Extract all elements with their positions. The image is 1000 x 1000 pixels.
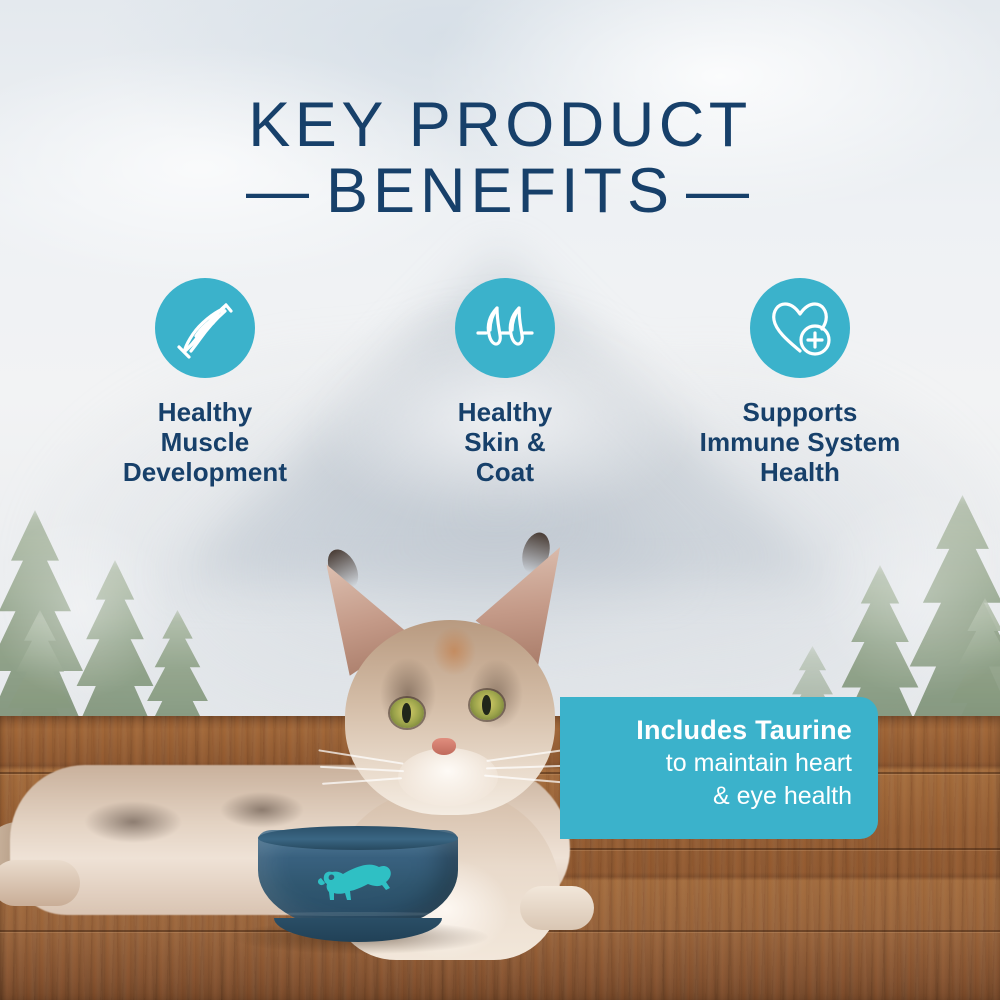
cat-muzzle [398,748,498,806]
product-benefits-banner: KEY PRODUCT —BENEFITS— Healthy Muscle D [0,0,1000,1000]
bowl-base-ring [268,912,448,916]
benefit-item-immune: Supports Immune System Health [650,278,950,487]
cat-pupil-right [482,695,491,715]
benefit-label-immune-line-3: Health [650,457,950,487]
title-line-2: —BENEFITS— [0,158,1000,224]
benefit-label-immune: Supports Immune System Health [650,397,950,487]
cat-front-paw [520,886,594,930]
heart-plus-icon [750,278,850,378]
hair-follicle-icon [455,278,555,378]
benefit-item-skin-coat: Healthy Skin & Coat [355,278,655,487]
callout-line-1: Includes Taurine [560,713,852,747]
benefit-label-muscle-line-1: Healthy [55,397,355,427]
benefit-label-skin-coat-line-3: Coat [355,457,655,487]
page-title: KEY PRODUCT —BENEFITS— [0,92,1000,224]
title-dash-left: — [234,158,326,224]
bowl-rim [258,826,458,850]
benefits-list: Healthy Muscle Development Healthy [0,278,1000,518]
title-line-1: KEY PRODUCT [248,90,751,160]
benefit-label-immune-line-1: Supports [650,397,950,427]
title-line-2-text: BENEFITS [326,156,674,226]
title-dash-right: — [674,158,766,224]
bowl-foot [274,918,442,942]
benefit-item-muscle: Healthy Muscle Development [55,278,355,487]
buffalo-bison-logo [316,860,400,906]
pet-food-bowl [258,826,458,948]
taurine-callout-badge: Includes Taurine to maintain heart & eye… [560,697,878,839]
cat-rear-paw [0,860,80,906]
muscle-fiber-icon [155,278,255,378]
benefit-label-immune-line-2: Immune System [650,427,950,457]
callout-line-2: to maintain heart [560,747,852,780]
benefit-label-muscle: Healthy Muscle Development [55,397,355,487]
cat-nose [432,738,456,755]
benefit-label-muscle-line-2: Muscle [55,427,355,457]
benefit-label-skin-coat-line-2: Skin & [355,427,655,457]
cat-pupil-left [402,703,411,723]
benefit-label-skin-coat-line-1: Healthy [355,397,655,427]
benefit-label-skin-coat: Healthy Skin & Coat [355,397,655,487]
benefit-label-muscle-line-3: Development [55,457,355,487]
callout-line-3: & eye health [560,780,852,813]
